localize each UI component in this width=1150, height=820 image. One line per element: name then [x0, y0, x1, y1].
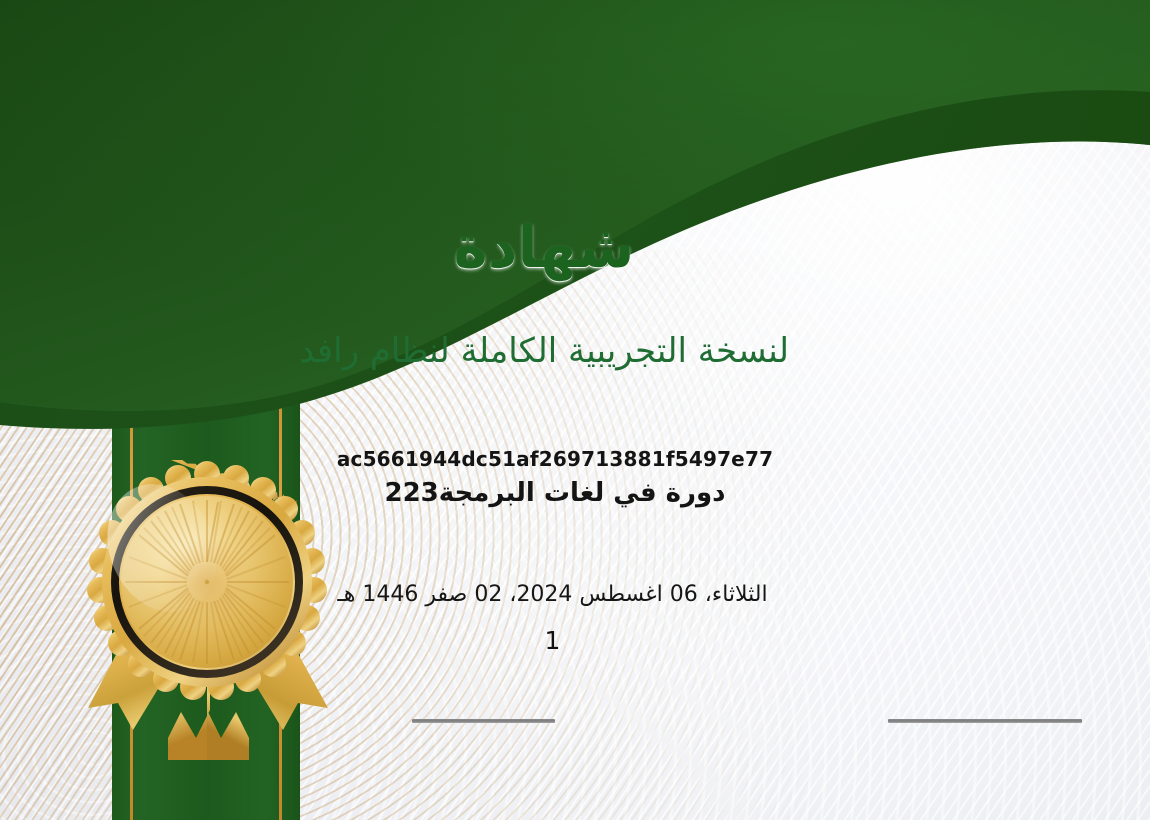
certificate-page: شهادة لنسخة التجريبية الكاملة لنظام رافد… [0, 0, 1150, 820]
certificate-subtitle: لنسخة التجريبية الكاملة لنظام رافد [0, 330, 1150, 373]
certificate-course-name: دورة في لغات البرمجة223 [0, 478, 1150, 508]
certificate-title: شهادة [0, 216, 1150, 280]
certificate-number: 1 [0, 626, 1150, 655]
signature-line-left [412, 719, 555, 723]
certificate-content: شهادة لنسخة التجريبية الكاملة لنظام رافد… [0, 0, 1150, 820]
signature-line-right [888, 719, 1082, 723]
certificate-date: الثلاثاء، 06 اغسطس 2024، 02 صفر 1446 هـ [0, 582, 1150, 607]
certificate-hash-id: ac5661944dc51af269713881f5497e77 [0, 447, 1150, 471]
